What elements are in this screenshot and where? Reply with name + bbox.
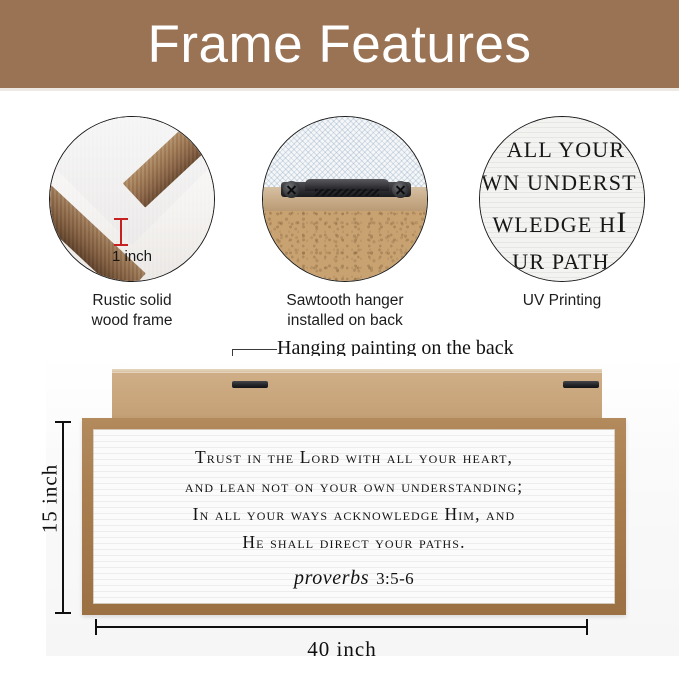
sawtooth-hanger-hardware bbox=[281, 179, 411, 201]
back-panel-hanger-right bbox=[563, 381, 599, 388]
thickness-dimension-arrow bbox=[114, 217, 128, 247]
hanger-teeth bbox=[315, 189, 379, 196]
feature-rustic-wood-frame: 1 inch Rustic solid wood frame bbox=[32, 110, 232, 331]
back-panel-hanger-left bbox=[232, 381, 268, 388]
caption-line-2: wood frame bbox=[92, 312, 173, 329]
dimension-width: 40 inch bbox=[92, 622, 592, 666]
verse-line-3: In all your ways acknowledge Him, and bbox=[185, 500, 523, 528]
dimension-height: 15 inch bbox=[30, 418, 72, 618]
verse-reference-book: proverbs bbox=[294, 567, 369, 589]
dimension-height-cap-bottom bbox=[55, 612, 71, 614]
verse-reference-number: 3:5-6 bbox=[376, 569, 414, 588]
dimension-cap-bottom bbox=[114, 244, 128, 246]
header-divider bbox=[0, 88, 679, 91]
caption-line-2: installed on back bbox=[287, 312, 402, 329]
screw-icon-left bbox=[283, 181, 300, 198]
callout-leader-horizontal bbox=[232, 349, 277, 350]
product-stage: Trust in the Lord with all your heart, a… bbox=[46, 356, 679, 656]
page-title: Frame Features bbox=[147, 18, 531, 71]
hanger-wall-backdrop bbox=[263, 117, 427, 187]
feature-row: 1 inch Rustic solid wood frame Sawtooth … bbox=[0, 110, 679, 325]
caption-line-1: UV Printing bbox=[523, 292, 601, 309]
uv-print-line-4: UR PATH bbox=[480, 245, 644, 278]
verse-line-4: He shall direct your paths. bbox=[185, 528, 523, 556]
uv-print-dropcap: I bbox=[616, 206, 627, 239]
verse-reference: proverbs3:5-6 bbox=[294, 567, 414, 590]
product-frame: Trust in the Lord with all your heart, a… bbox=[82, 418, 626, 615]
dimension-width-cap-right bbox=[586, 619, 588, 635]
dimension-width-line bbox=[96, 626, 588, 628]
product-sign-board: Trust in the Lord with all your heart, a… bbox=[93, 429, 615, 604]
verse-line-1: Trust in the Lord with all your heart, bbox=[185, 443, 523, 471]
verse-text: Trust in the Lord with all your heart, a… bbox=[185, 443, 523, 556]
feature-image-wood-frame-corner: 1 inch bbox=[49, 116, 215, 282]
feature-image-uv-printing: ALL YOUR WN UNDERST WLEDGE HI UR PATH bbox=[479, 116, 645, 282]
screw-icon-right bbox=[392, 181, 409, 198]
feature-caption-sawtooth-hanger: Sawtooth hanger installed on back bbox=[245, 291, 445, 331]
feature-sawtooth-hanger: Sawtooth hanger installed on back bbox=[245, 110, 445, 331]
feature-image-sawtooth-hanger bbox=[262, 116, 428, 282]
feature-caption-wood-frame: Rustic solid wood frame bbox=[32, 291, 232, 331]
feature-caption-uv-printing: UV Printing bbox=[462, 291, 662, 311]
caption-line-1: Sawtooth hanger bbox=[286, 292, 403, 309]
verse-line-2: and lean not on your own understanding; bbox=[185, 472, 523, 500]
feature-uv-printing: ALL YOUR WN UNDERST WLEDGE HI UR PATH UV… bbox=[462, 110, 662, 311]
uv-print-line-1: ALL YOUR bbox=[488, 133, 644, 166]
uv-print-text-closeup: ALL YOUR WN UNDERST WLEDGE HI UR PATH bbox=[480, 117, 644, 281]
hanger-mdf-board bbox=[263, 211, 427, 281]
uv-print-line-3-text: WLEDGE H bbox=[492, 212, 616, 237]
dimension-bar bbox=[120, 219, 122, 245]
header-bar: Frame Features bbox=[0, 0, 679, 88]
uv-print-line-2: WN UNDERST bbox=[480, 166, 644, 199]
dimension-width-label: 40 inch bbox=[92, 637, 592, 662]
thickness-label: 1 inch bbox=[50, 248, 214, 265]
dimension-height-label: 15 inch bbox=[38, 439, 63, 559]
caption-line-1: Rustic solid bbox=[92, 292, 171, 309]
uv-print-line-3: WLEDGE HI bbox=[480, 200, 644, 246]
